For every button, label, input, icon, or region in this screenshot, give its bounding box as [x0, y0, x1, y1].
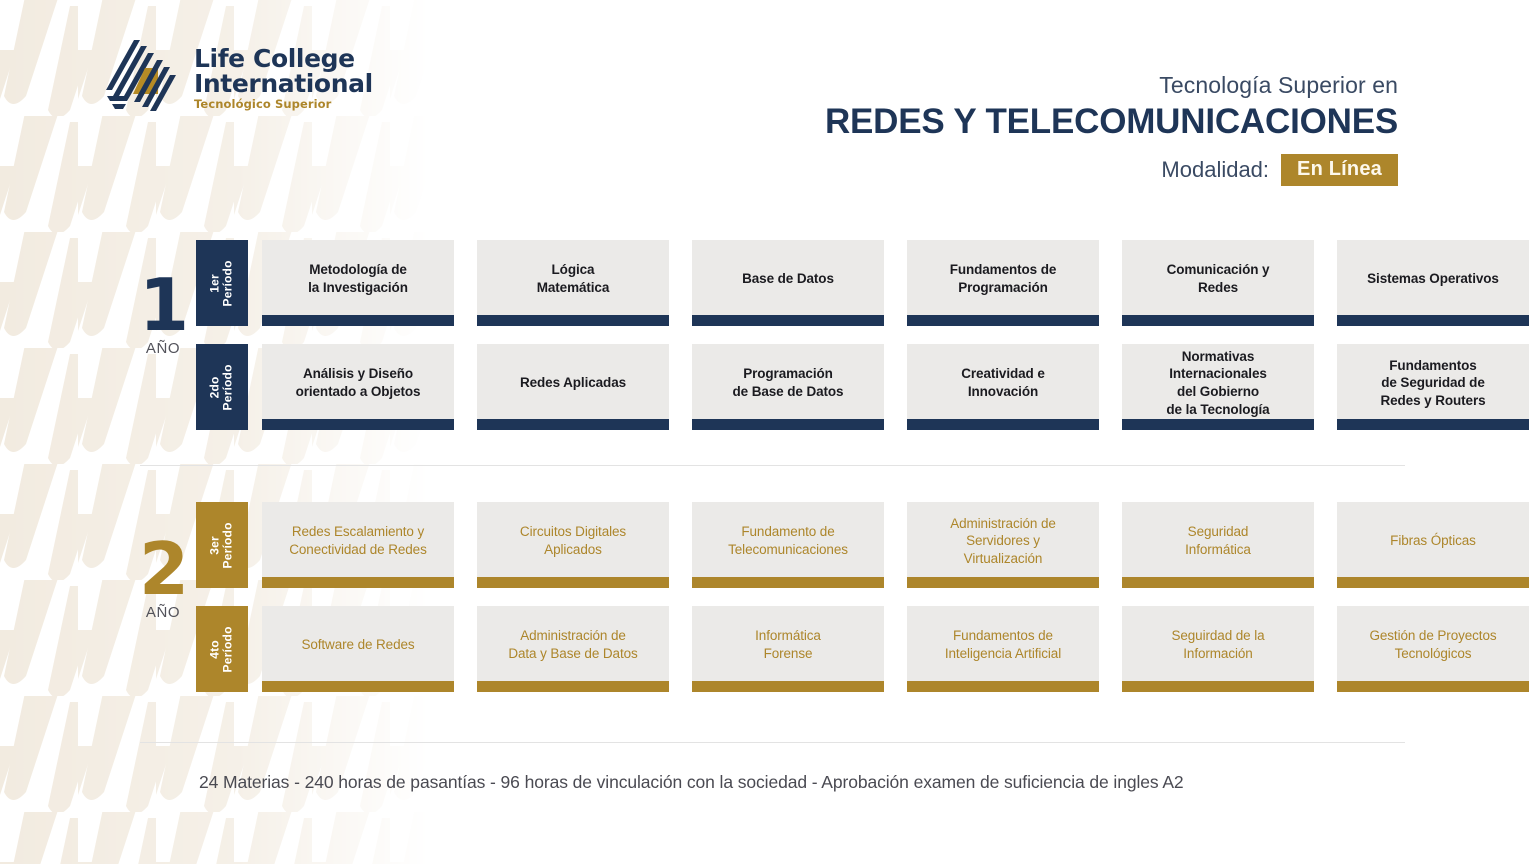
card-accent-bar	[692, 681, 884, 692]
period-label-line-2: Período	[221, 522, 235, 568]
course-card[interactable]: Administración deServidores yVirtualizac…	[907, 502, 1099, 588]
course-card[interactable]: Programaciónde Base de Datos	[692, 344, 884, 430]
course-card[interactable]: Fundamentos deProgramación	[907, 240, 1099, 326]
period-label-line-1: 2do	[208, 376, 222, 398]
course-card-list: Análisis y Diseñoorientado a Objetos Red…	[262, 344, 1529, 430]
card-accent-bar	[692, 419, 884, 430]
course-card[interactable]: Fundamentos deInteligencia Artificial	[907, 606, 1099, 692]
program-eyebrow: Tecnología Superior en	[825, 72, 1398, 100]
course-title: Análisis y Diseñoorientado a Objetos	[296, 365, 421, 400]
course-title: Redes Escalamiento yConectividad de Rede…	[289, 523, 427, 558]
course-title: Metodología dela Investigación	[308, 261, 408, 296]
card-accent-bar	[1122, 315, 1314, 326]
course-title: Administración deData y Base de Datos	[508, 627, 637, 662]
card-accent-bar	[692, 315, 884, 326]
year-badge-1: 1 AÑO	[128, 276, 198, 357]
year-number: 1	[128, 276, 198, 335]
page-title: REDES Y TELECOMUNICACIONES	[825, 102, 1398, 142]
card-accent-bar	[477, 577, 669, 588]
card-accent-bar	[1337, 681, 1529, 692]
course-card[interactable]: Redes Aplicadas	[477, 344, 669, 430]
period-tab-2: 2do Período	[196, 344, 248, 430]
card-accent-bar	[262, 681, 454, 692]
card-accent-bar	[1122, 681, 1314, 692]
course-card[interactable]: Seguirdad de laInformación	[1122, 606, 1314, 692]
course-card[interactable]: Creatividad eInnovación	[907, 344, 1099, 430]
brand-tagline: Tecnológico Superior	[194, 99, 373, 111]
year-badge-2: 2 AÑO	[128, 540, 198, 621]
course-card[interactable]: Fibras Ópticas	[1337, 502, 1529, 588]
course-title: Fundamento deTelecomunicaciones	[728, 523, 848, 558]
course-title: Gestión de ProyectosTecnológicos	[1369, 627, 1496, 662]
course-card-list: Metodología dela Investigación LógicaMat…	[262, 240, 1529, 326]
brand-wordmark: Life College International Tecnológico S…	[194, 46, 373, 111]
course-card[interactable]: LógicaMatemática	[477, 240, 669, 326]
course-title: LógicaMatemática	[537, 261, 610, 296]
card-accent-bar	[907, 681, 1099, 692]
card-accent-bar	[477, 315, 669, 326]
course-card[interactable]: Gestión de ProyectosTecnológicos	[1337, 606, 1529, 692]
page-header: Life College International Tecnológico S…	[0, 0, 1536, 215]
period-label-line-2: Período	[221, 260, 235, 306]
course-card[interactable]: Circuitos DigitalesAplicados	[477, 502, 669, 588]
card-accent-bar	[1337, 419, 1529, 430]
course-title: Fibras Ópticas	[1390, 532, 1476, 550]
course-card[interactable]: Fundamento deTelecomunicaciones	[692, 502, 884, 588]
period-label-line-1: 4to	[208, 640, 222, 659]
period-tab-4: 4to Período	[196, 606, 248, 692]
course-card[interactable]: SeguridadInformática	[1122, 502, 1314, 588]
card-accent-bar	[262, 315, 454, 326]
brand-logo: Life College International Tecnológico S…	[100, 38, 373, 118]
card-accent-bar	[1337, 577, 1529, 588]
modality-label: Modalidad:	[1161, 157, 1269, 183]
course-title: Administración deServidores yVirtualizac…	[950, 515, 1056, 568]
period-label-line-2: Período	[221, 364, 235, 410]
course-card[interactable]: Sistemas Operativos	[1337, 240, 1529, 326]
card-accent-bar	[1122, 419, 1314, 430]
period-label-line-1: 1er	[208, 274, 222, 293]
period-tab-label: 3er Período	[209, 522, 236, 568]
course-card[interactable]: NormativasInternacionalesdel Gobiernode …	[1122, 344, 1314, 430]
card-accent-bar	[692, 577, 884, 588]
card-accent-bar	[262, 419, 454, 430]
course-title: Programaciónde Base de Datos	[733, 365, 844, 400]
course-title: NormativasInternacionalesdel Gobiernode …	[1166, 348, 1269, 418]
brand-name-line-1: Life College	[194, 46, 373, 71]
card-accent-bar	[262, 577, 454, 588]
card-accent-bar	[907, 419, 1099, 430]
course-card[interactable]: Redes Escalamiento yConectividad de Rede…	[262, 502, 454, 588]
course-title: Redes Aplicadas	[520, 374, 626, 392]
course-card[interactable]: Fundamentosde Seguridad deRedes y Router…	[1337, 344, 1529, 430]
course-card[interactable]: Base de Datos	[692, 240, 884, 326]
card-accent-bar	[907, 315, 1099, 326]
course-card[interactable]: Administración deData y Base de Datos	[477, 606, 669, 692]
course-card[interactable]: Software de Redes	[262, 606, 454, 692]
course-card-list: Redes Escalamiento yConectividad de Rede…	[262, 502, 1529, 588]
period-tab-label: 1er Período	[209, 260, 236, 306]
card-accent-bar	[477, 681, 669, 692]
course-card[interactable]: InformáticaForense	[692, 606, 884, 692]
course-title: Base de Datos	[742, 270, 834, 288]
course-card-list: Software de Redes Administración deData …	[262, 606, 1529, 692]
course-title: Software de Redes	[301, 636, 414, 654]
period-tab-label: 2do Período	[209, 364, 236, 410]
card-accent-bar	[907, 577, 1099, 588]
course-title: Comunicación yRedes	[1167, 261, 1270, 296]
course-title: Fundamentos deProgramación	[950, 261, 1057, 296]
course-title: SeguridadInformática	[1185, 523, 1251, 558]
modality-row: Modalidad: En Línea	[825, 154, 1398, 186]
course-card[interactable]: Comunicación yRedes	[1122, 240, 1314, 326]
card-accent-bar	[477, 419, 669, 430]
period-tab-3: 3er Período	[196, 502, 248, 588]
period-label-line-1: 3er	[208, 536, 222, 555]
period-label-line-2: Período	[221, 626, 235, 672]
course-card[interactable]: Metodología dela Investigación	[262, 240, 454, 326]
course-title: Fundamentosde Seguridad deRedes y Router…	[1380, 357, 1485, 410]
logo-mark-icon	[100, 38, 178, 118]
course-title: Creatividad eInnovación	[961, 365, 1044, 400]
course-card[interactable]: Análisis y Diseñoorientado a Objetos	[262, 344, 454, 430]
course-title: Circuitos DigitalesAplicados	[520, 523, 626, 558]
footer-note: 24 Materias - 240 horas de pasantías - 9…	[199, 772, 1184, 793]
course-title: InformáticaForense	[755, 627, 821, 662]
course-title: Fundamentos deInteligencia Artificial	[945, 627, 1061, 662]
brand-name-line-2: International	[194, 71, 373, 96]
card-accent-bar	[1122, 577, 1314, 588]
card-accent-bar	[1337, 315, 1529, 326]
course-title: Sistemas Operativos	[1367, 270, 1499, 288]
course-title: Seguirdad de laInformación	[1171, 627, 1264, 662]
period-tab-1: 1er Período	[196, 240, 248, 326]
program-heading: Tecnología Superior en REDES Y TELECOMUN…	[825, 72, 1398, 186]
status-badge: En Línea	[1281, 154, 1398, 186]
period-tab-label: 4to Período	[209, 626, 236, 672]
year-number: 2	[128, 540, 198, 599]
